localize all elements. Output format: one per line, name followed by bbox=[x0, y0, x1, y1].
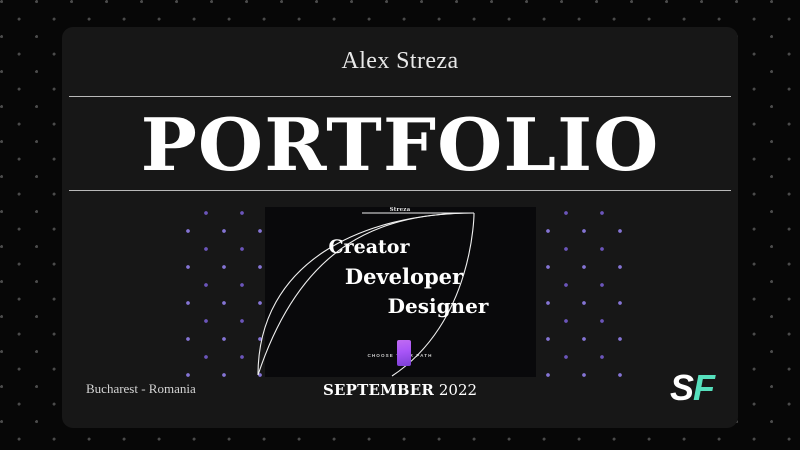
divider-above-title bbox=[69, 96, 731, 97]
divider-below-title bbox=[69, 190, 731, 191]
page-title: PORTFOLIO bbox=[62, 104, 738, 186]
preview-brand-label: Streza bbox=[62, 207, 738, 213]
purple-accent-swatch bbox=[397, 340, 411, 366]
choose-path-cta[interactable]: CHOOSE YOUR PATH bbox=[62, 344, 738, 362]
brand-logo-letter-f: F bbox=[693, 367, 714, 408]
brand-logo-letter-s: S bbox=[670, 367, 693, 408]
website-preview[interactable]: Streza Creator Developer Designer CHOOSE… bbox=[62, 202, 738, 377]
role-item-creator[interactable]: Creator bbox=[62, 238, 738, 257]
author-name: Alex Streza bbox=[62, 48, 738, 75]
portfolio-slide-card: Alex Streza PORTFOLIO Streza Creator Dev… bbox=[62, 27, 738, 428]
role-item-developer[interactable]: Developer bbox=[70, 266, 738, 287]
role-list: Creator Developer Designer bbox=[62, 238, 738, 316]
role-item-designer[interactable]: Designer bbox=[138, 296, 738, 316]
footer-date-year: 2022 bbox=[439, 381, 477, 399]
footer-date-month: SEPTEMBER bbox=[323, 381, 434, 399]
footer-date: SEPTEMBER 2022 bbox=[62, 381, 738, 399]
brand-logo[interactable]: SF bbox=[670, 370, 714, 406]
